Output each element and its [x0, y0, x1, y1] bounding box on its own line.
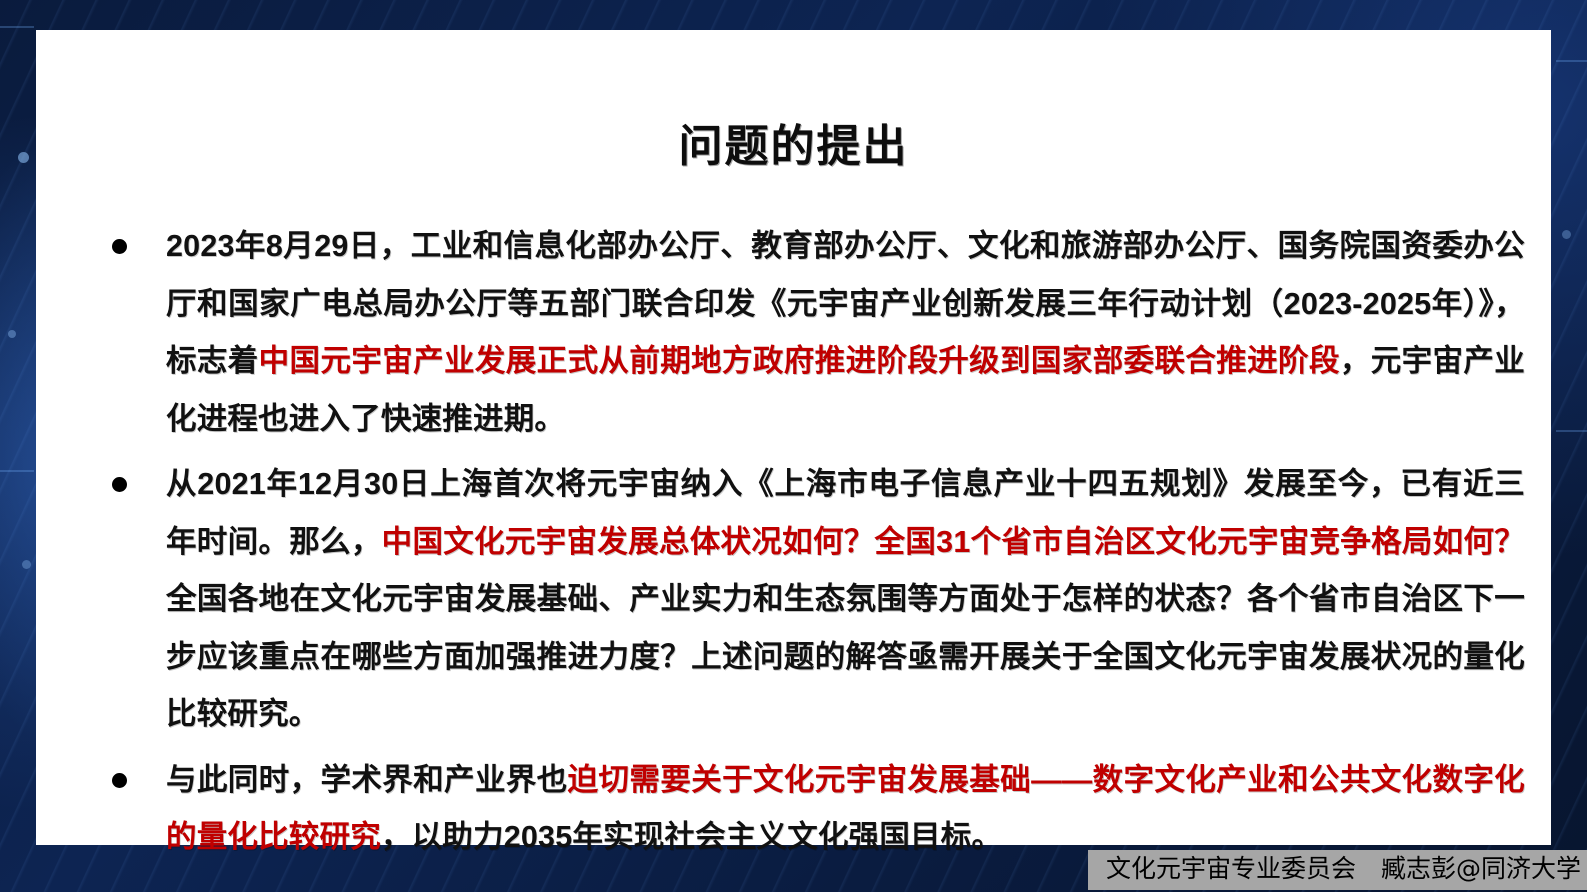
- background-dot-icon: [1562, 230, 1571, 239]
- background-line-decoration: [0, 26, 34, 28]
- bullet-list: 2023年8月29日，工业和信息化部办公厅、教育部办公厅、文化和旅游部办公厅、国…: [36, 174, 1551, 867]
- background-line-decoration: [0, 470, 34, 472]
- slide-content-card: 问题的提出 2023年8月29日，工业和信息化部办公厅、教育部办公厅、文化和旅游…: [36, 30, 1551, 845]
- background-dot-icon: [8, 330, 16, 338]
- bullet-1-segment-2-highlight: 中国元宇宙产业发展正式从前期地方政府推进阶段升级到国家部委联合推进阶段: [259, 344, 1340, 378]
- bullet-item-1: 2023年8月29日，工业和信息化部办公厅、教育部办公厅、文化和旅游部办公厅、国…: [98, 218, 1525, 448]
- background-dot-icon: [22, 560, 31, 569]
- slide-root: 问题的提出 2023年8月29日，工业和信息化部办公厅、教育部办公厅、文化和旅游…: [0, 0, 1587, 892]
- bullet-2-segment-2-highlight: 中国文化元宇宙发展总体状况如何？全国31个省市自治区文化元宇宙竞争格局如何？: [382, 525, 1525, 559]
- bullet-2-segment-3: 全国各地在文化元宇宙发展基础、产业实力和生态氛围等方面处于怎样的状态？各个省市自…: [166, 582, 1525, 731]
- background-line-decoration: [1556, 430, 1587, 432]
- footer-caption: 文化元宇宙专业委员会 臧志彭@同济大学: [1088, 850, 1587, 890]
- bullet-item-2: 从2021年12月30日上海首次将元宇宙纳入《上海市电子信息产业十四五规划》发展…: [98, 456, 1525, 744]
- bullet-3-segment-1: 与此同时，学术界和产业界也: [166, 763, 568, 797]
- page-title: 问题的提出: [36, 30, 1551, 174]
- bullet-item-3: 与此同时，学术界和产业界也迫切需要关于文化元宇宙发展基础——数字文化产业和公共文…: [98, 752, 1525, 867]
- background-line-decoration: [1556, 60, 1587, 62]
- background-dot-icon: [18, 152, 29, 163]
- bullet-3-segment-3: ，以助力2035年实现社会主义文化强国目标。: [381, 820, 1002, 854]
